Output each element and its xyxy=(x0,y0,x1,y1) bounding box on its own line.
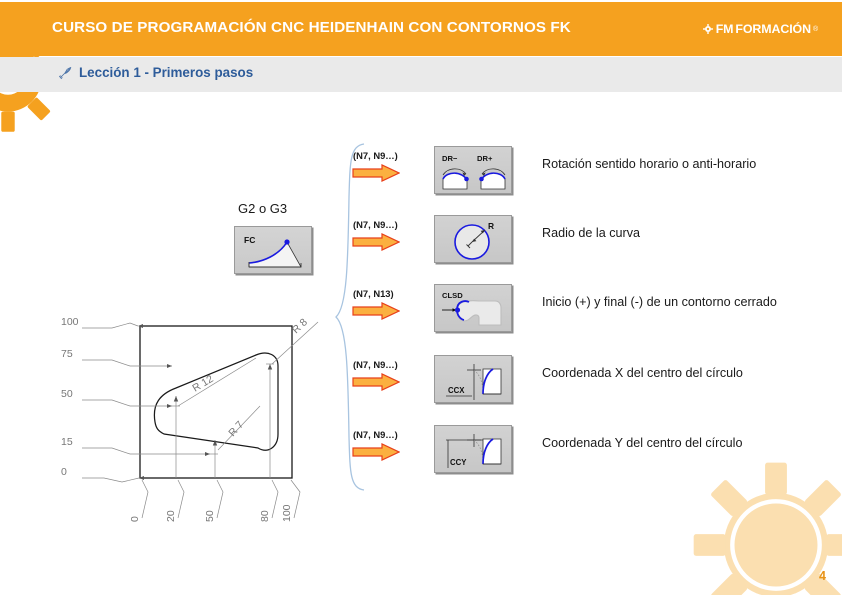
radius-circle-icon-box[interactable]: R xyxy=(434,215,512,263)
ccx-center-x-icon: CCX xyxy=(435,356,512,403)
brand-cog-icon xyxy=(703,23,713,35)
brand-prefix: FM xyxy=(716,22,734,36)
page-title: CURSO DE PROGRAMACIÓN CNC HEIDENHAIN CON… xyxy=(52,19,571,36)
y-tick-label: 15 xyxy=(61,436,73,448)
arrow-right-icon xyxy=(352,373,400,391)
radius-label: R 12 xyxy=(190,373,215,395)
fk-contour-technical-drawing: 100 75 50 15 0 0 20 50 80 100 R 8 R 12 R… xyxy=(60,300,330,555)
breadcrumb: Lección 1 - Primeros pasos xyxy=(58,65,253,80)
ccy-center-y-icon: CCY xyxy=(435,426,512,473)
brand-registered: ® xyxy=(813,26,818,33)
clsd-contour-icon: CLSD xyxy=(435,285,512,332)
radius-circle-icon: R xyxy=(435,216,512,263)
y-tick-label: 50 xyxy=(61,388,73,400)
svg-text:DR−: DR− xyxy=(442,154,458,163)
brand-logo: FMFORMACIÓN® xyxy=(703,22,818,36)
x-tick-label: 50 xyxy=(204,510,216,522)
svg-text:R: R xyxy=(488,221,494,231)
x-tick-label: 0 xyxy=(129,516,141,522)
arrow-right-icon xyxy=(352,302,400,320)
slide-root: CURSO DE PROGRAMACIÓN CNC HEIDENHAIN CON… xyxy=(0,0,842,595)
svg-text:DR+: DR+ xyxy=(477,154,493,163)
x-tick-label: 100 xyxy=(281,504,293,522)
rocket-icon xyxy=(58,66,72,80)
brand-suffix: FORMACIÓN xyxy=(735,22,811,36)
dr-minus-plus-icon: DR− DR+ xyxy=(435,147,512,194)
row-description: Inicio (+) y final (-) de un contorno ce… xyxy=(542,295,777,309)
ccy-center-y-icon-box[interactable]: CCY xyxy=(434,425,512,473)
arrow-right-icon xyxy=(352,233,400,251)
radius-label: R 7 xyxy=(226,419,246,439)
row-description: Rotación sentido horario o anti-horario xyxy=(542,157,756,171)
nc-block-label: (N7, N9…) xyxy=(353,359,398,370)
row-description: Coordenada X del centro del círculo xyxy=(542,366,743,380)
breadcrumb-label: Lección 1 - Primeros pasos xyxy=(79,65,253,80)
clsd-contour-icon-box[interactable]: CLSD xyxy=(434,284,512,332)
y-tick-label: 75 xyxy=(61,348,73,360)
page-number: 4 xyxy=(819,569,826,583)
nc-block-label: (N7, N9…) xyxy=(353,219,398,230)
y-tick-label: 100 xyxy=(61,316,79,328)
row-description: Coordenada Y del centro del círculo xyxy=(542,436,742,450)
svg-text:CCX: CCX xyxy=(448,386,465,395)
nc-block-label: (N7, N9…) xyxy=(353,150,398,161)
x-tick-label: 80 xyxy=(259,510,271,522)
nc-block-label: (N7, N9…) xyxy=(353,429,398,440)
row-radius: (N7, N9…) R Radio de la curva xyxy=(0,219,842,275)
svg-text:CCY: CCY xyxy=(450,458,467,467)
svg-text:CLSD: CLSD xyxy=(442,291,463,300)
dr-minus-plus-icon-box[interactable]: DR− DR+ xyxy=(434,146,512,194)
arrow-right-icon xyxy=(352,164,400,182)
row-dr-rotation: (N7, N9…) DR− DR+ Rotación sentido horar… xyxy=(0,150,842,206)
y-tick-label: 0 xyxy=(61,466,67,478)
arrow-right-icon xyxy=(352,443,400,461)
x-tick-label: 20 xyxy=(165,510,177,522)
nc-block-label: (N7, N13) xyxy=(353,288,394,299)
ccx-center-x-icon-box[interactable]: CCX xyxy=(434,355,512,403)
row-description: Radio de la curva xyxy=(542,226,640,240)
radius-label: R 8 xyxy=(290,316,310,336)
